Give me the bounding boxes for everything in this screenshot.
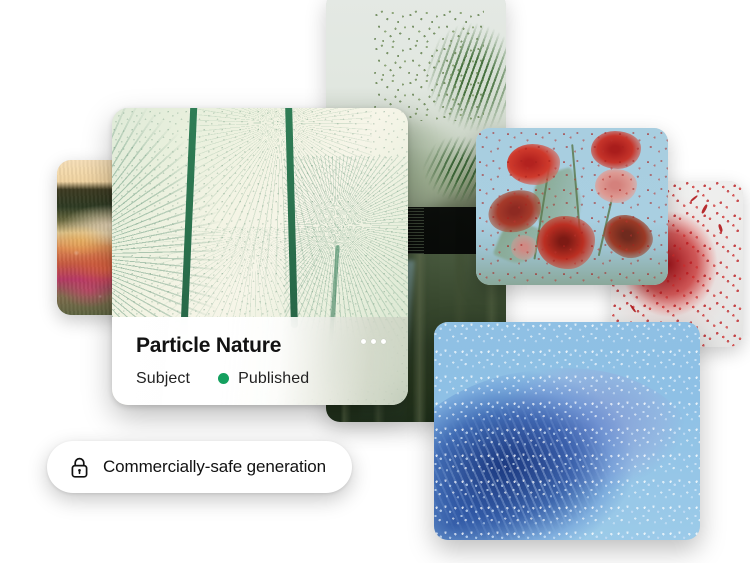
explode-shard (690, 195, 698, 202)
page-title: Particle Nature (136, 334, 384, 357)
wave-artwork (434, 322, 700, 540)
commercially-safe-label: Commercially-safe generation (103, 457, 326, 477)
more-dot (381, 339, 386, 344)
more-dot (361, 339, 366, 344)
status-label: Published (238, 370, 309, 388)
gallery-stage: Particle Nature Subject Published (0, 0, 750, 563)
more-horizontal-icon[interactable] (357, 335, 390, 348)
lock-icon (69, 456, 90, 479)
explode-shard (718, 224, 723, 233)
explode-shard (630, 304, 637, 312)
main-project-card[interactable]: Particle Nature Subject Published (112, 108, 408, 405)
status-badge: Published (218, 370, 309, 388)
gallery-card-wave[interactable] (434, 322, 700, 540)
main-card-meta-row: Subject Published (136, 370, 384, 388)
more-dot (371, 339, 376, 344)
poppies-artwork (476, 128, 668, 285)
card-category-label: Subject (136, 370, 190, 388)
status-dot-icon (218, 373, 229, 384)
fern-particle-dust (373, 9, 485, 121)
gallery-card-poppies[interactable] (476, 128, 668, 285)
main-card-footer: Particle Nature Subject Published (112, 317, 408, 405)
commercially-safe-badge[interactable]: Commercially-safe generation (47, 441, 352, 493)
wave-particle-dust (434, 322, 700, 540)
explode-shard (701, 204, 708, 214)
poppy-particle-spray (476, 128, 668, 285)
